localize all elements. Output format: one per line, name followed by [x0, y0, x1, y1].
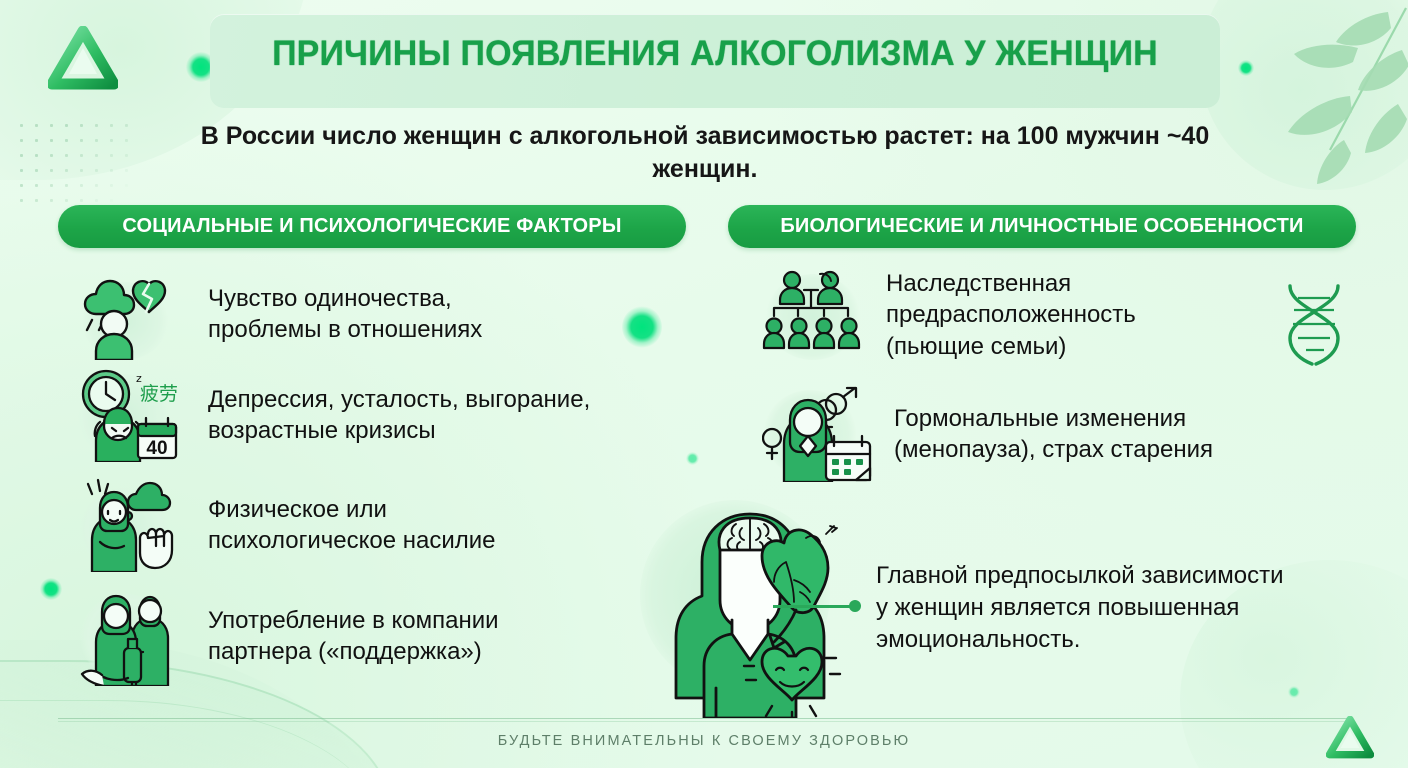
section-heading-left: СОЦИАЛЬНЫЕ И ПСИХОЛОГИЧЕСКИЕ ФАКТОРЫ	[58, 205, 686, 248]
callout-dot	[849, 600, 861, 612]
brand-logo-bottom	[1326, 716, 1374, 760]
list-item-text: Наследственная предрасположенность (пьющ…	[886, 268, 1136, 362]
list-item: z 疲劳 40 Депрессия, усталость, выгорание,…	[74, 368, 694, 462]
center-statement-text: Главной предпосылкой зависимости у женщи…	[876, 560, 1346, 656]
list-item-text: Физическое или психологическое насилие	[208, 494, 495, 556]
footer-divider-secondary	[58, 721, 1350, 722]
callout-connector	[773, 600, 868, 612]
list-item: Физическое или психологическое насилие	[74, 478, 674, 572]
page-title: ПРИЧИНЫ ПОЯВЛЕНИЯ АЛКОГОЛИЗМА У ЖЕНЩИН	[225, 34, 1205, 74]
subtitle-text: В России число женщин с алкогольной зави…	[200, 120, 1210, 186]
woman-thought-cloud-stop-hand-icon	[74, 478, 192, 572]
list-item-text: Гормональные изменения (менопауза), стра…	[894, 403, 1213, 465]
footer-text: БУДЬТЕ ВНИМАТЕЛЬНЫ К СВОЕМУ ЗДОРОВЬЮ	[0, 733, 1408, 749]
accent-glow-dot	[40, 578, 62, 600]
footer-divider	[58, 718, 1350, 719]
list-item-text: Употребление в компании партнера («подде…	[208, 605, 499, 667]
list-item: Чувство одиночества, проблемы в отношени…	[74, 268, 674, 360]
list-item: Употребление в компании партнера («подде…	[74, 586, 674, 686]
brand-logo-top	[48, 26, 118, 92]
list-item-text: Чувство одиночества, проблемы в отношени…	[208, 283, 482, 345]
section-heading-right-label: БИОЛОГИЧЕСКИЕ И ЛИЧНОСТНЫЕ ОСОБЕННОСТИ	[780, 215, 1303, 238]
callout-line	[773, 605, 851, 608]
svg-text:40: 40	[146, 438, 167, 459]
family-tree-icon	[762, 268, 874, 362]
section-heading-right: БИОЛОГИЧЕСКИЕ И ЛИЧНОСТНЫЕ ОСОБЕННОСТИ	[728, 205, 1356, 248]
accent-glow-dot	[1238, 60, 1254, 76]
triangle-logo-icon	[1326, 716, 1374, 760]
clock-tired-woman-calendar-40-icon: z 疲劳 40	[74, 368, 192, 462]
cloud-rain-broken-heart-person-glyph	[74, 268, 192, 360]
couple-bottle-icon	[74, 586, 192, 686]
background-ring-top-right	[1200, 0, 1408, 190]
accent-glow-dot	[1288, 686, 1300, 698]
dna-helix-icon	[1268, 278, 1360, 372]
couple-bottle-glyph	[74, 586, 192, 686]
clock-tired-woman-calendar-glyph: z 疲劳 40	[74, 368, 192, 462]
triangle-logo-icon	[48, 26, 118, 92]
svg-text:疲劳: 疲劳	[140, 383, 178, 405]
section-heading-left-label: СОЦИАЛЬНЫЕ И ПСИХОЛОГИЧЕСКИЕ ФАКТОРЫ	[122, 215, 621, 238]
list-item: Наследственная предрасположенность (пьющ…	[762, 268, 1242, 362]
leaf-branch-icon	[1238, 0, 1408, 210]
family-tree-glyph	[762, 268, 874, 362]
woman-thought-cloud-stop-hand-glyph	[74, 478, 192, 572]
woman-gender-symbols-calendar-glyph	[762, 386, 880, 482]
woman-gender-symbols-calendar-icon	[762, 386, 880, 482]
list-item-text: Депрессия, усталость, выгорание, возраст…	[208, 384, 590, 446]
infographic-canvas: ПРИЧИНЫ ПОЯВЛЕНИЯ АЛКОГОЛИЗМА У ЖЕНЩИН В…	[0, 0, 1408, 768]
list-item: Гормональные изменения (менопауза), стра…	[762, 386, 1282, 482]
cloud-rain-broken-heart-person-icon	[74, 268, 192, 360]
background-dot-grid	[14, 118, 134, 214]
